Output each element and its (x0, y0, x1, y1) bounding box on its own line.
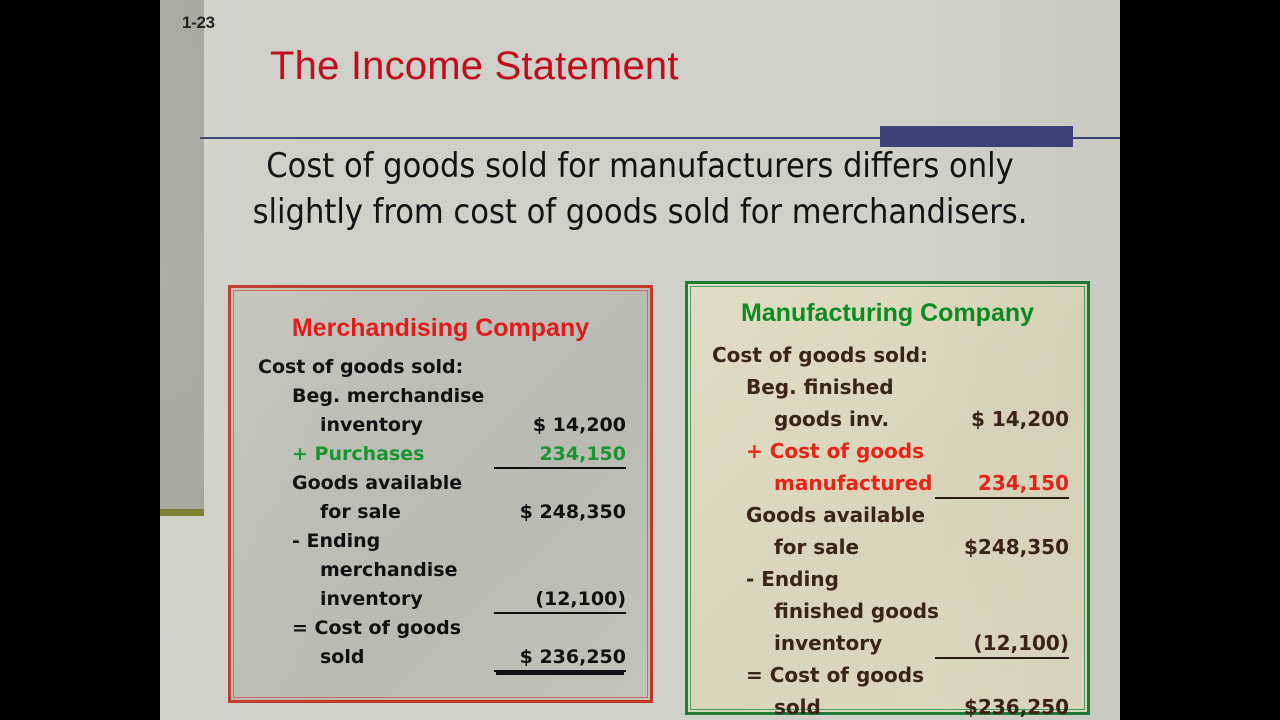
statement-row-label: sold (258, 646, 494, 668)
statement-row-label: Goods available (258, 472, 494, 494)
presentation-slide: 1-23 The Income Statement Cost of goods … (160, 0, 1120, 720)
statement-row: Goods available (688, 503, 1087, 535)
statement-row: Cost of goods sold: (231, 356, 650, 385)
decorative-side-band (160, 0, 204, 511)
statement-row-label: Cost of goods sold: (712, 343, 935, 367)
statement-row: + Purchases234,150 (231, 443, 650, 472)
statement-row-amount: $ 14,200 (494, 414, 626, 436)
panel-heading-manufacturing: Manufacturing Company (688, 299, 1087, 328)
statement-row-label: for sale (258, 501, 494, 523)
statement-row-amount: $ 248,350 (494, 501, 626, 523)
statement-row-amount: $236,250 (935, 695, 1069, 720)
statement-row-label: manufactured (712, 471, 935, 495)
panel-merchandising-company: Merchandising Company Cost of goods sold… (228, 285, 653, 703)
slide-number: 1-23 (182, 13, 215, 33)
statement-row: - Ending (231, 530, 650, 559)
statement-row: - Ending (688, 567, 1087, 599)
statement-row: Beg. finished (688, 375, 1087, 407)
statement-row-label: inventory (258, 414, 494, 436)
statement-row: inventory(12,100) (231, 588, 650, 617)
statement-row-label: Beg. finished (712, 375, 935, 399)
statement-row-label: - Ending (712, 567, 935, 591)
statement-row: merchandise (231, 559, 650, 588)
statement-row: = Cost of goods (688, 663, 1087, 695)
statement-row-label: sold (712, 695, 935, 719)
lead-statement: Cost of goods sold for manufacturers dif… (220, 143, 1060, 235)
statement-row-label: Goods available (712, 503, 935, 527)
statement-row: goods inv.$ 14,200 (688, 407, 1087, 439)
statement-row-amount: 234,150 (494, 443, 626, 469)
statement-row-amount: $ 14,200 (935, 407, 1069, 431)
statement-row-amount: $248,350 (935, 535, 1069, 559)
statement-row-label: goods inv. (712, 407, 935, 431)
statement-row-label: Cost of goods sold: (258, 356, 494, 378)
statement-row: manufactured234,150 (688, 471, 1087, 503)
statement-row-label: Beg. merchandise (258, 385, 494, 407)
screenshot-stage: 1-23 The Income Statement Cost of goods … (0, 0, 1280, 720)
statement-row-amount: (12,100) (935, 631, 1069, 659)
statement-row: sold$236,250 (688, 695, 1087, 720)
panel-heading-merchandising: Merchandising Company (231, 314, 650, 343)
statement-row: Cost of goods sold: (688, 343, 1087, 375)
statement-row: inventory$ 14,200 (231, 414, 650, 443)
page-title: The Income Statement (270, 44, 679, 89)
statement-row: = Cost of goods (231, 617, 650, 646)
statement-row-label: + Purchases (258, 443, 494, 465)
statement-row: Goods available (231, 472, 650, 501)
statement-row: + Cost of goods (688, 439, 1087, 471)
statement-row-amount: $ 236,250 (494, 646, 626, 672)
decorative-olive-bar (160, 509, 204, 516)
panel-manufacturing-company: Manufacturing Company Cost of goods sold… (685, 281, 1090, 715)
statement-row-amount: (12,100) (494, 588, 626, 614)
statement-row: Beg. merchandise (231, 385, 650, 414)
statement-row-amount: 234,150 (935, 471, 1069, 499)
statement-row-label: finished goods (712, 599, 939, 623)
statement-row: for sale$ 248,350 (231, 501, 650, 530)
statement-row: for sale$248,350 (688, 535, 1087, 567)
statement-rows-manufacturing: Cost of goods sold:Beg. finishedgoods in… (688, 343, 1087, 720)
statement-row-label: merchandise (258, 559, 494, 581)
statement-row-label: for sale (712, 535, 935, 559)
statement-row-label: = Cost of goods (258, 617, 494, 639)
statement-row: sold$ 236,250 (231, 646, 650, 675)
statement-row-label: + Cost of goods (712, 439, 935, 463)
statement-row-label: inventory (712, 631, 935, 655)
statement-row-label: - Ending (258, 530, 494, 552)
statement-rows-merchandising: Cost of goods sold:Beg. merchandiseinven… (231, 356, 650, 675)
statement-row: finished goods (688, 599, 1087, 631)
statement-row-label: inventory (258, 588, 494, 610)
statement-row: inventory(12,100) (688, 631, 1087, 663)
statement-row-label: = Cost of goods (712, 663, 935, 687)
